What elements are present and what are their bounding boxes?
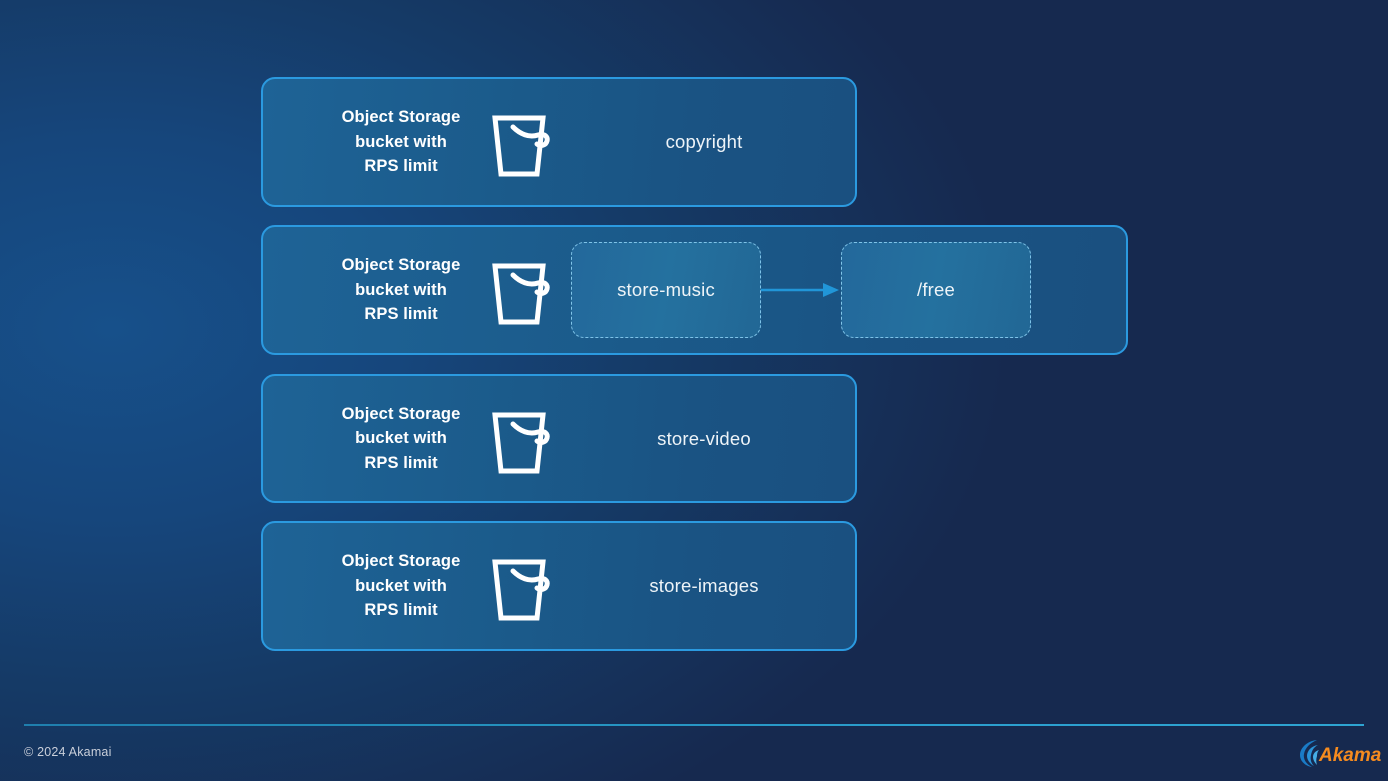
- bucket-icon: [487, 399, 561, 479]
- card-content: Object Storage bucket with RPS limit sto…: [263, 227, 1126, 353]
- bucket-icon: [487, 546, 561, 626]
- footer-divider: [24, 724, 1364, 726]
- bucket-value-store-video: store-video: [657, 428, 751, 450]
- prefix-box-label: store-music: [617, 279, 715, 301]
- bucket-card-label: Object Storage bucket with RPS limit: [325, 402, 477, 476]
- bucket-card-store-music[interactable]: Object Storage bucket with RPS limit sto…: [261, 225, 1128, 355]
- card-content: Object Storage bucket with RPS limit sto…: [263, 376, 855, 501]
- bucket-card-store-video[interactable]: Object Storage bucket with RPS limit sto…: [261, 374, 857, 503]
- bucket-card-label: Object Storage bucket with RPS limit: [325, 549, 477, 623]
- bucket-icon: [487, 250, 561, 330]
- prefix-box-free[interactable]: /free: [841, 242, 1031, 338]
- card-value-area: store-video: [561, 428, 855, 450]
- akamai-swoosh-icon: [1300, 740, 1319, 767]
- akamai-wordmark: Akamai: [1318, 745, 1381, 766]
- prefix-box-label: /free: [917, 279, 955, 301]
- bucket-icon: [487, 102, 561, 182]
- arrow-right-icon: [761, 278, 841, 302]
- bucket-value-copyright: copyright: [666, 131, 743, 153]
- card-content: Object Storage bucket with RPS limit sto…: [263, 523, 855, 649]
- slide-canvas: Object Storage bucket with RPS limit cop…: [0, 0, 1388, 781]
- akamai-logo: Akamai: [1297, 737, 1381, 769]
- card-value-area: copyright: [561, 131, 855, 153]
- bucket-card-copyright[interactable]: Object Storage bucket with RPS limit cop…: [261, 77, 857, 207]
- card-value-area: store-images: [561, 575, 855, 597]
- bucket-card-store-images[interactable]: Object Storage bucket with RPS limit sto…: [261, 521, 857, 651]
- bucket-card-label: Object Storage bucket with RPS limit: [325, 253, 477, 327]
- prefix-box-store-music[interactable]: store-music: [571, 242, 761, 338]
- card-content: Object Storage bucket with RPS limit cop…: [263, 79, 855, 205]
- bucket-card-label: Object Storage bucket with RPS limit: [325, 105, 477, 179]
- bucket-subflow: store-music /free: [561, 242, 1126, 338]
- bucket-value-store-images: store-images: [649, 575, 758, 597]
- footer-copyright: © 2024 Akamai: [24, 745, 112, 759]
